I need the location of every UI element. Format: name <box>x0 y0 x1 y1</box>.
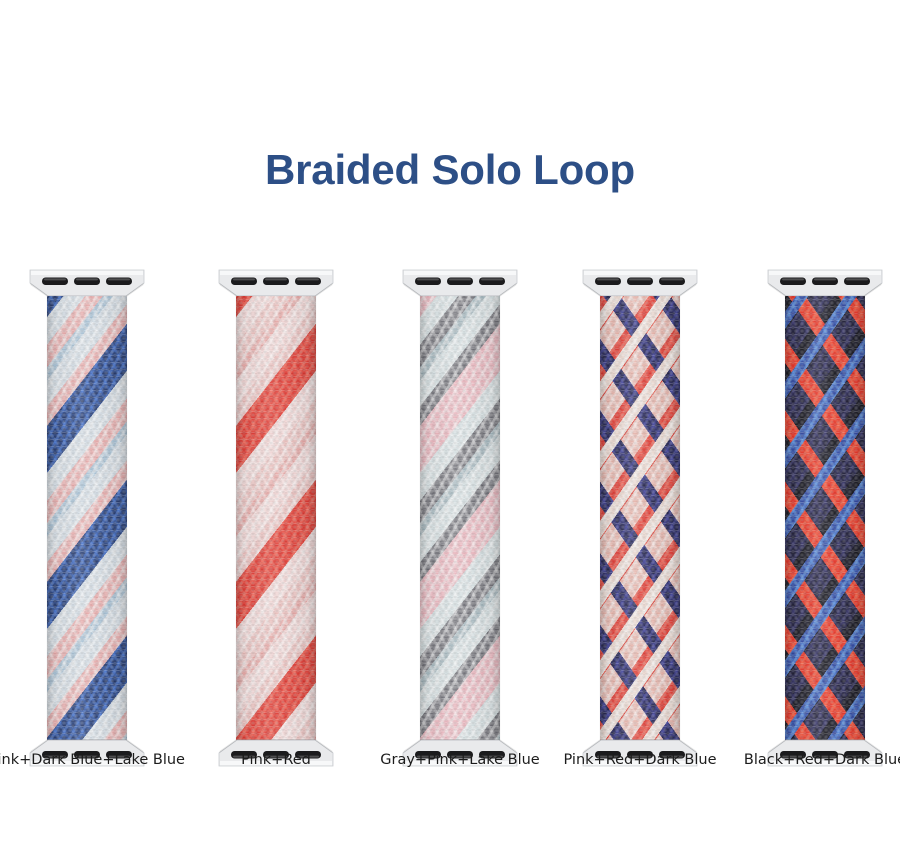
watch-lug-connector-top <box>217 268 335 298</box>
watch-lug-connector-top <box>766 268 884 298</box>
product-item-2[interactable]: Pink+Red <box>186 268 366 768</box>
weave-bump-overlay <box>600 296 680 740</box>
watch-lug-connector-top <box>401 268 519 298</box>
page-title: Braided Solo Loop <box>0 146 900 194</box>
weave-bump-overlay <box>785 296 865 740</box>
product-band-row: Pink+Dark Blue+Lake Blue Pink+Red Gray+P… <box>0 268 900 768</box>
product-label: Pink+Red <box>176 752 376 768</box>
product-label: Black+Red+Dark Blue <box>725 752 900 768</box>
braided-band-strap[interactable] <box>47 296 127 740</box>
weave-bump-overlay <box>47 296 127 740</box>
product-label: Pink+Red+Dark Blue <box>540 752 740 768</box>
product-item-4[interactable]: Pink+Red+Dark Blue <box>550 268 730 768</box>
braided-band-strap[interactable] <box>600 296 680 740</box>
braided-band-strap[interactable] <box>236 296 316 740</box>
product-label: Pink+Dark Blue+Lake Blue <box>0 752 187 768</box>
braided-band-strap[interactable] <box>785 296 865 740</box>
product-item-1[interactable]: Pink+Dark Blue+Lake Blue <box>0 268 177 768</box>
weave-bump-overlay <box>420 296 500 740</box>
braided-band-strap[interactable] <box>420 296 500 740</box>
weave-bump-overlay <box>236 296 316 740</box>
product-item-5[interactable]: Black+Red+Dark Blue <box>735 268 900 768</box>
watch-lug-connector-top <box>28 268 146 298</box>
product-label: Gray+Pink+Lake Blue <box>360 752 560 768</box>
product-item-3[interactable]: Gray+Pink+Lake Blue <box>370 268 550 768</box>
watch-lug-connector-top <box>581 268 699 298</box>
